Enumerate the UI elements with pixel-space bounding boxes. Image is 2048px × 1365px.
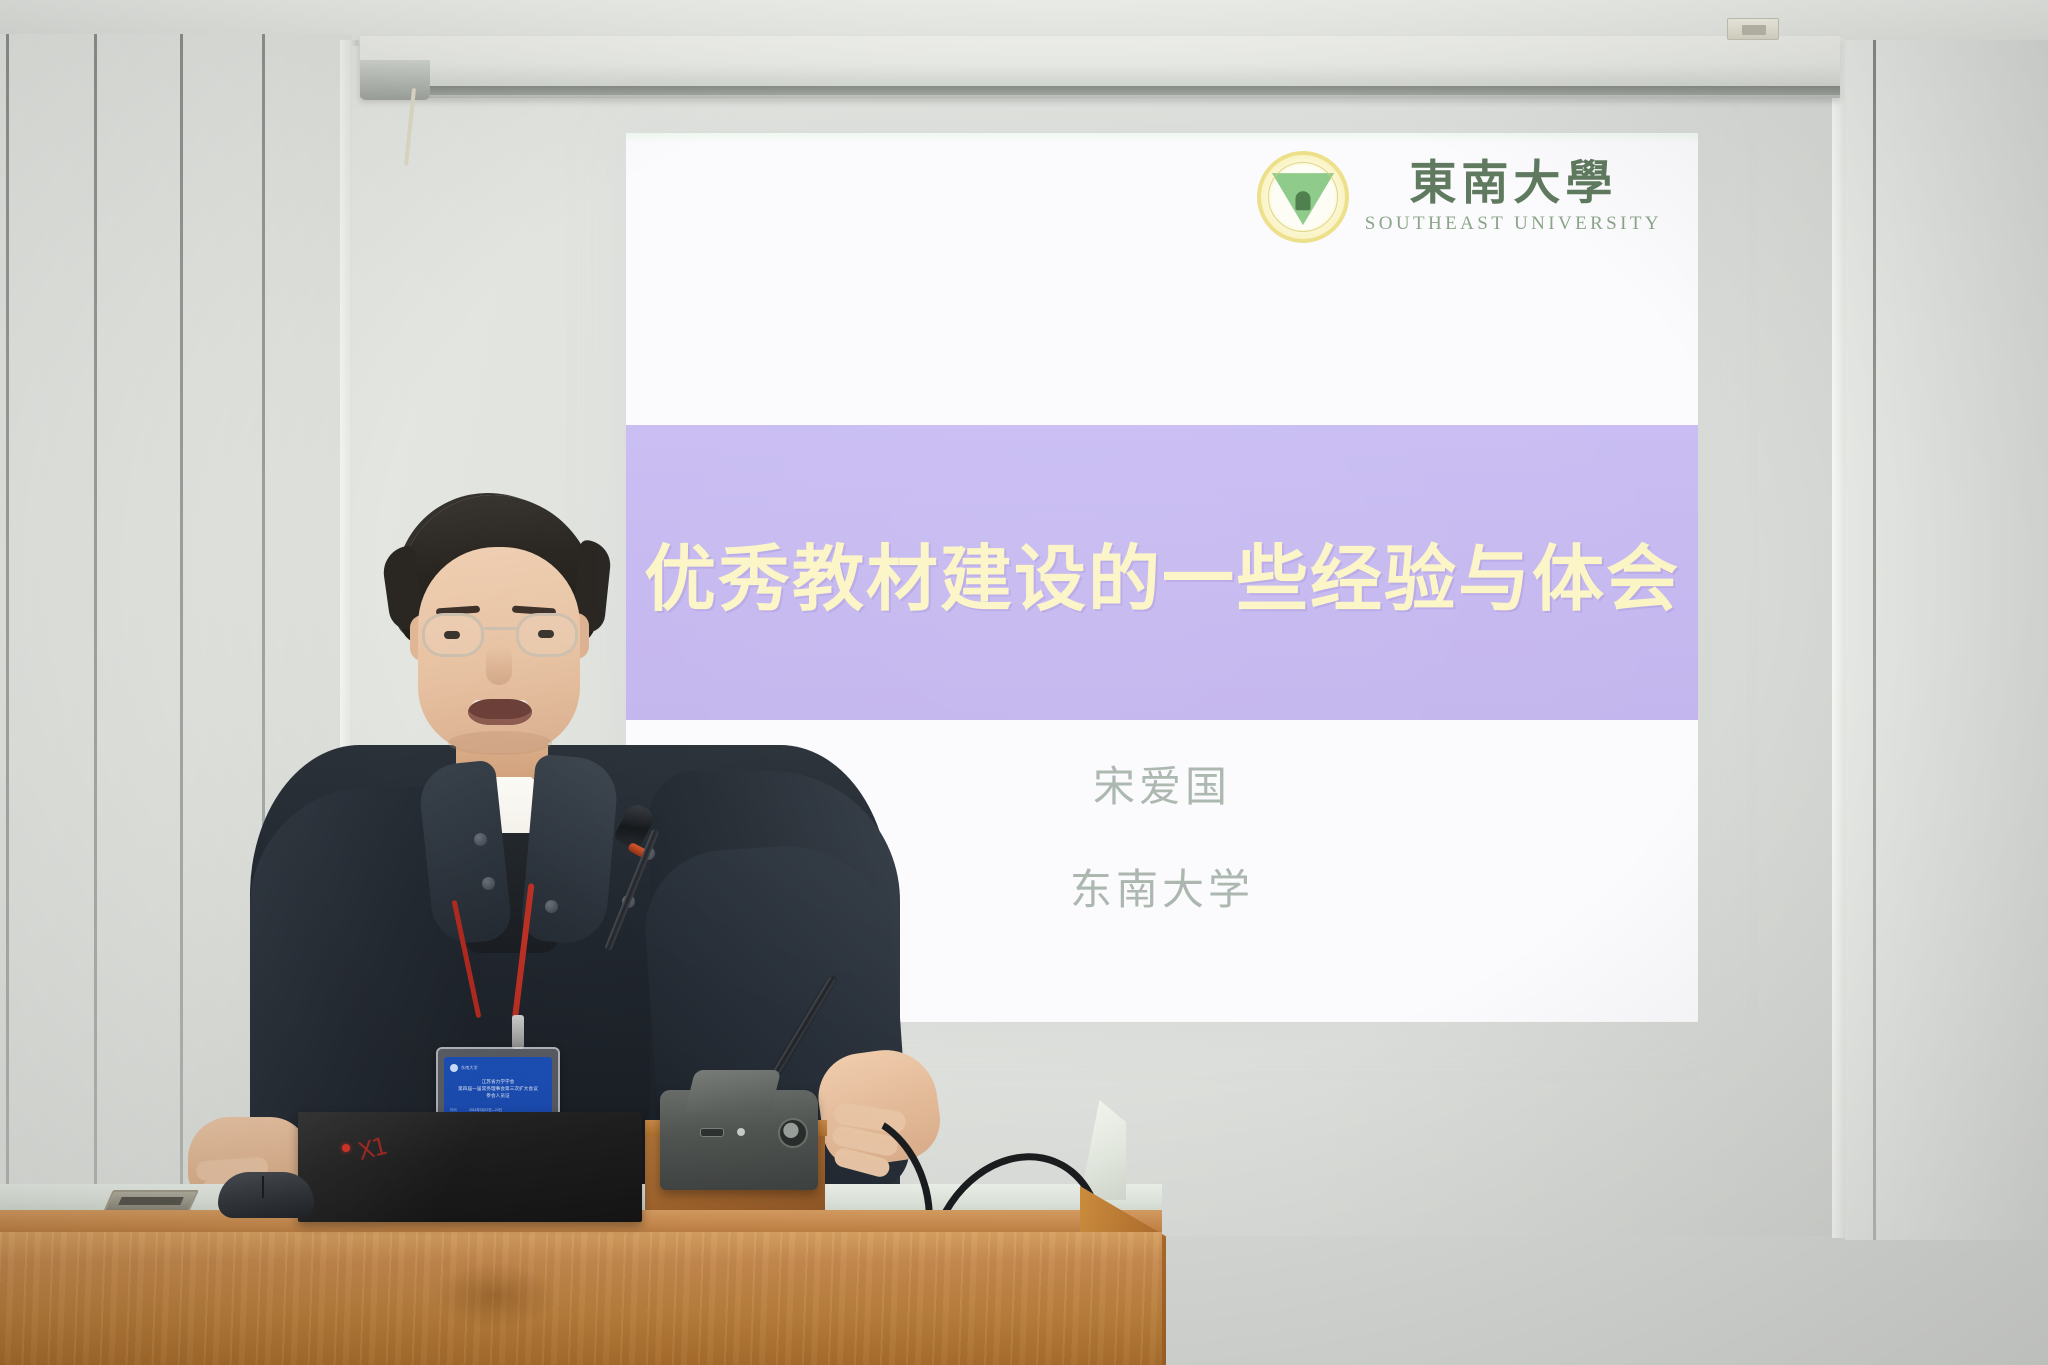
podium-front-panel xyxy=(0,1232,1162,1365)
badge-header: 江苏省力学学会 第四届一届常务理事会第三次扩大会议 参会人员证 xyxy=(450,1078,546,1099)
university-logo: 東南大學 SOUTHEAST UNIVERSITY xyxy=(1257,151,1662,243)
presentation-photo-scene: 東南大學 SOUTHEAST UNIVERSITY 优秀教材建设的一些经验与体会… xyxy=(0,0,2048,1365)
badge-brand-text: 东南大学 xyxy=(461,1065,478,1071)
slide-presenter-name: 宋爱国 xyxy=(1093,753,1231,814)
screen-housing-endcap xyxy=(360,60,430,100)
wall-seam xyxy=(1873,40,1876,1240)
slide-affiliation: 东南大学 xyxy=(1070,856,1254,917)
jacket-snap xyxy=(545,900,558,913)
cable-port-grommet xyxy=(103,1190,199,1212)
wordmark-chinese: 東南大學 xyxy=(1409,159,1617,208)
slide-top-glow xyxy=(626,133,1698,143)
laptop-lid[interactable] xyxy=(298,1112,642,1222)
mouth xyxy=(468,699,532,725)
jacket-snap xyxy=(474,833,487,846)
wordmark-english: SOUTHEAST UNIVERSITY xyxy=(1365,213,1662,235)
southeast-university-seal-icon xyxy=(1257,151,1349,243)
lanyard-clip xyxy=(512,1015,524,1049)
laptop-lid-sheen xyxy=(298,1112,642,1222)
microphone-status-led xyxy=(737,1128,745,1136)
wall-seam xyxy=(6,34,9,1234)
badge-logo-icon xyxy=(450,1064,458,1072)
wall-seam xyxy=(180,34,183,1234)
badge-header-line1: 江苏省力学学会 xyxy=(450,1078,546,1085)
badge-header-line2: 第四届一届常务理事会第三次扩大会议 xyxy=(450,1085,546,1092)
microphone-mute-switch[interactable] xyxy=(700,1128,724,1137)
university-wordmark: 東南大學 SOUTHEAST UNIVERSITY xyxy=(1365,159,1662,234)
wall-right-panels xyxy=(1845,40,2048,1240)
wood-knot xyxy=(430,1262,560,1330)
screen-housing-lip xyxy=(420,86,1840,95)
glasses-bridge xyxy=(484,627,518,630)
microphone-base-neck xyxy=(685,1070,781,1112)
lens-left xyxy=(422,613,484,657)
microphone-xlr-port xyxy=(778,1118,808,1148)
wood-grain-texture xyxy=(0,1232,1162,1365)
nose xyxy=(486,645,512,685)
lens-right xyxy=(516,613,578,657)
badge-brand: 东南大学 xyxy=(450,1064,546,1072)
jacket-snap xyxy=(482,877,495,890)
badge-header-line3: 参会人员证 xyxy=(450,1092,546,1099)
wall-seam xyxy=(94,34,97,1234)
mouse-button-split xyxy=(262,1176,264,1198)
computer-mouse[interactable] xyxy=(218,1172,314,1218)
wall-power-socket xyxy=(1727,18,1779,40)
chin-shadow xyxy=(448,731,552,755)
seal-inner-ring xyxy=(1268,162,1338,232)
thinkpad-logo-dot-icon xyxy=(342,1144,350,1152)
